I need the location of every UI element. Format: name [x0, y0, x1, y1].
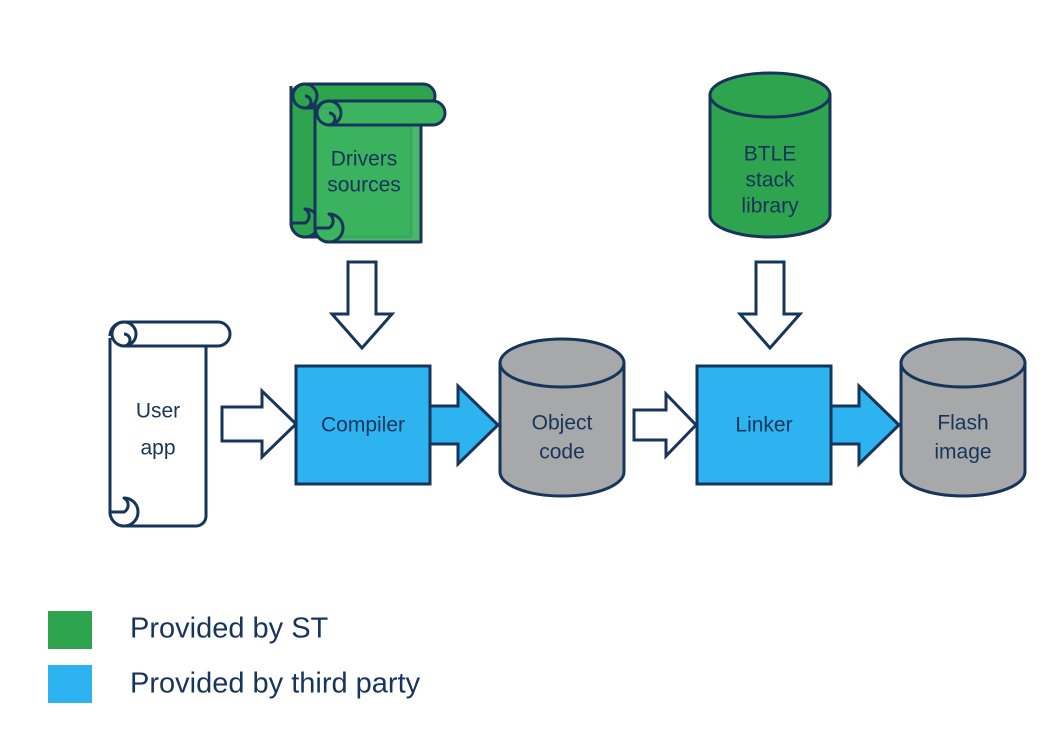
arrow-userapp-to-compiler: [222, 391, 296, 457]
linker-label: Linker: [735, 414, 792, 437]
legend-label-third-party: Provided by third party: [130, 668, 421, 700]
arrow-compiler-to-objectcode: [430, 386, 498, 464]
btle-label-line2: stack: [745, 169, 795, 192]
node-object-code[interactable]: Object code: [500, 339, 624, 496]
arrow-btle-to-linker: [740, 262, 800, 348]
drivers-sources-label-line2: sources: [327, 174, 401, 197]
flash-image-label-line2: image: [934, 441, 991, 464]
arrow-linker-to-flashimage: [831, 386, 899, 464]
node-flash-image[interactable]: Flash image: [901, 339, 1025, 496]
flash-image-label-line1: Flash: [937, 412, 988, 435]
drivers-sources-front-sheet: [315, 101, 445, 242]
user-app-top-roll: [124, 322, 230, 346]
user-app-label-line2: app: [140, 437, 175, 460]
btle-label-line1: BTLE: [744, 143, 797, 166]
object-code-label-line2: code: [539, 441, 585, 464]
drivers-sources-label-line1: Drivers: [331, 148, 398, 171]
user-app-label-line1: User: [136, 400, 180, 423]
node-btle-stack-library[interactable]: BTLE stack library: [710, 73, 830, 237]
btle-label-line3: library: [741, 195, 799, 218]
node-linker[interactable]: Linker: [697, 366, 831, 484]
legend-swatch-third-party: [48, 665, 92, 703]
node-compiler[interactable]: Compiler: [296, 366, 430, 484]
node-user-app[interactable]: User app: [110, 322, 230, 526]
arrow-drivers-to-compiler: [332, 262, 392, 348]
legend: Provided by ST Provided by third party: [48, 611, 421, 703]
btle-cylinder-top: [710, 73, 830, 117]
object-code-label-line1: Object: [532, 412, 593, 435]
object-code-cylinder-top: [500, 339, 624, 387]
legend-item-provided-by-st: Provided by ST: [48, 611, 329, 649]
node-drivers-sources[interactable]: Drivers sources: [291, 84, 445, 242]
compiler-label: Compiler: [321, 414, 405, 437]
user-app-sheet: [110, 322, 218, 526]
arrow-objectcode-to-linker: [634, 394, 696, 456]
legend-swatch-st: [48, 611, 92, 649]
legend-item-provided-by-third-party: Provided by third party: [48, 665, 421, 703]
flash-image-cylinder-top: [901, 339, 1025, 387]
build-flow-diagram: Drivers sources BTLE stack library User …: [0, 0, 1058, 734]
legend-label-st: Provided by ST: [130, 613, 329, 645]
